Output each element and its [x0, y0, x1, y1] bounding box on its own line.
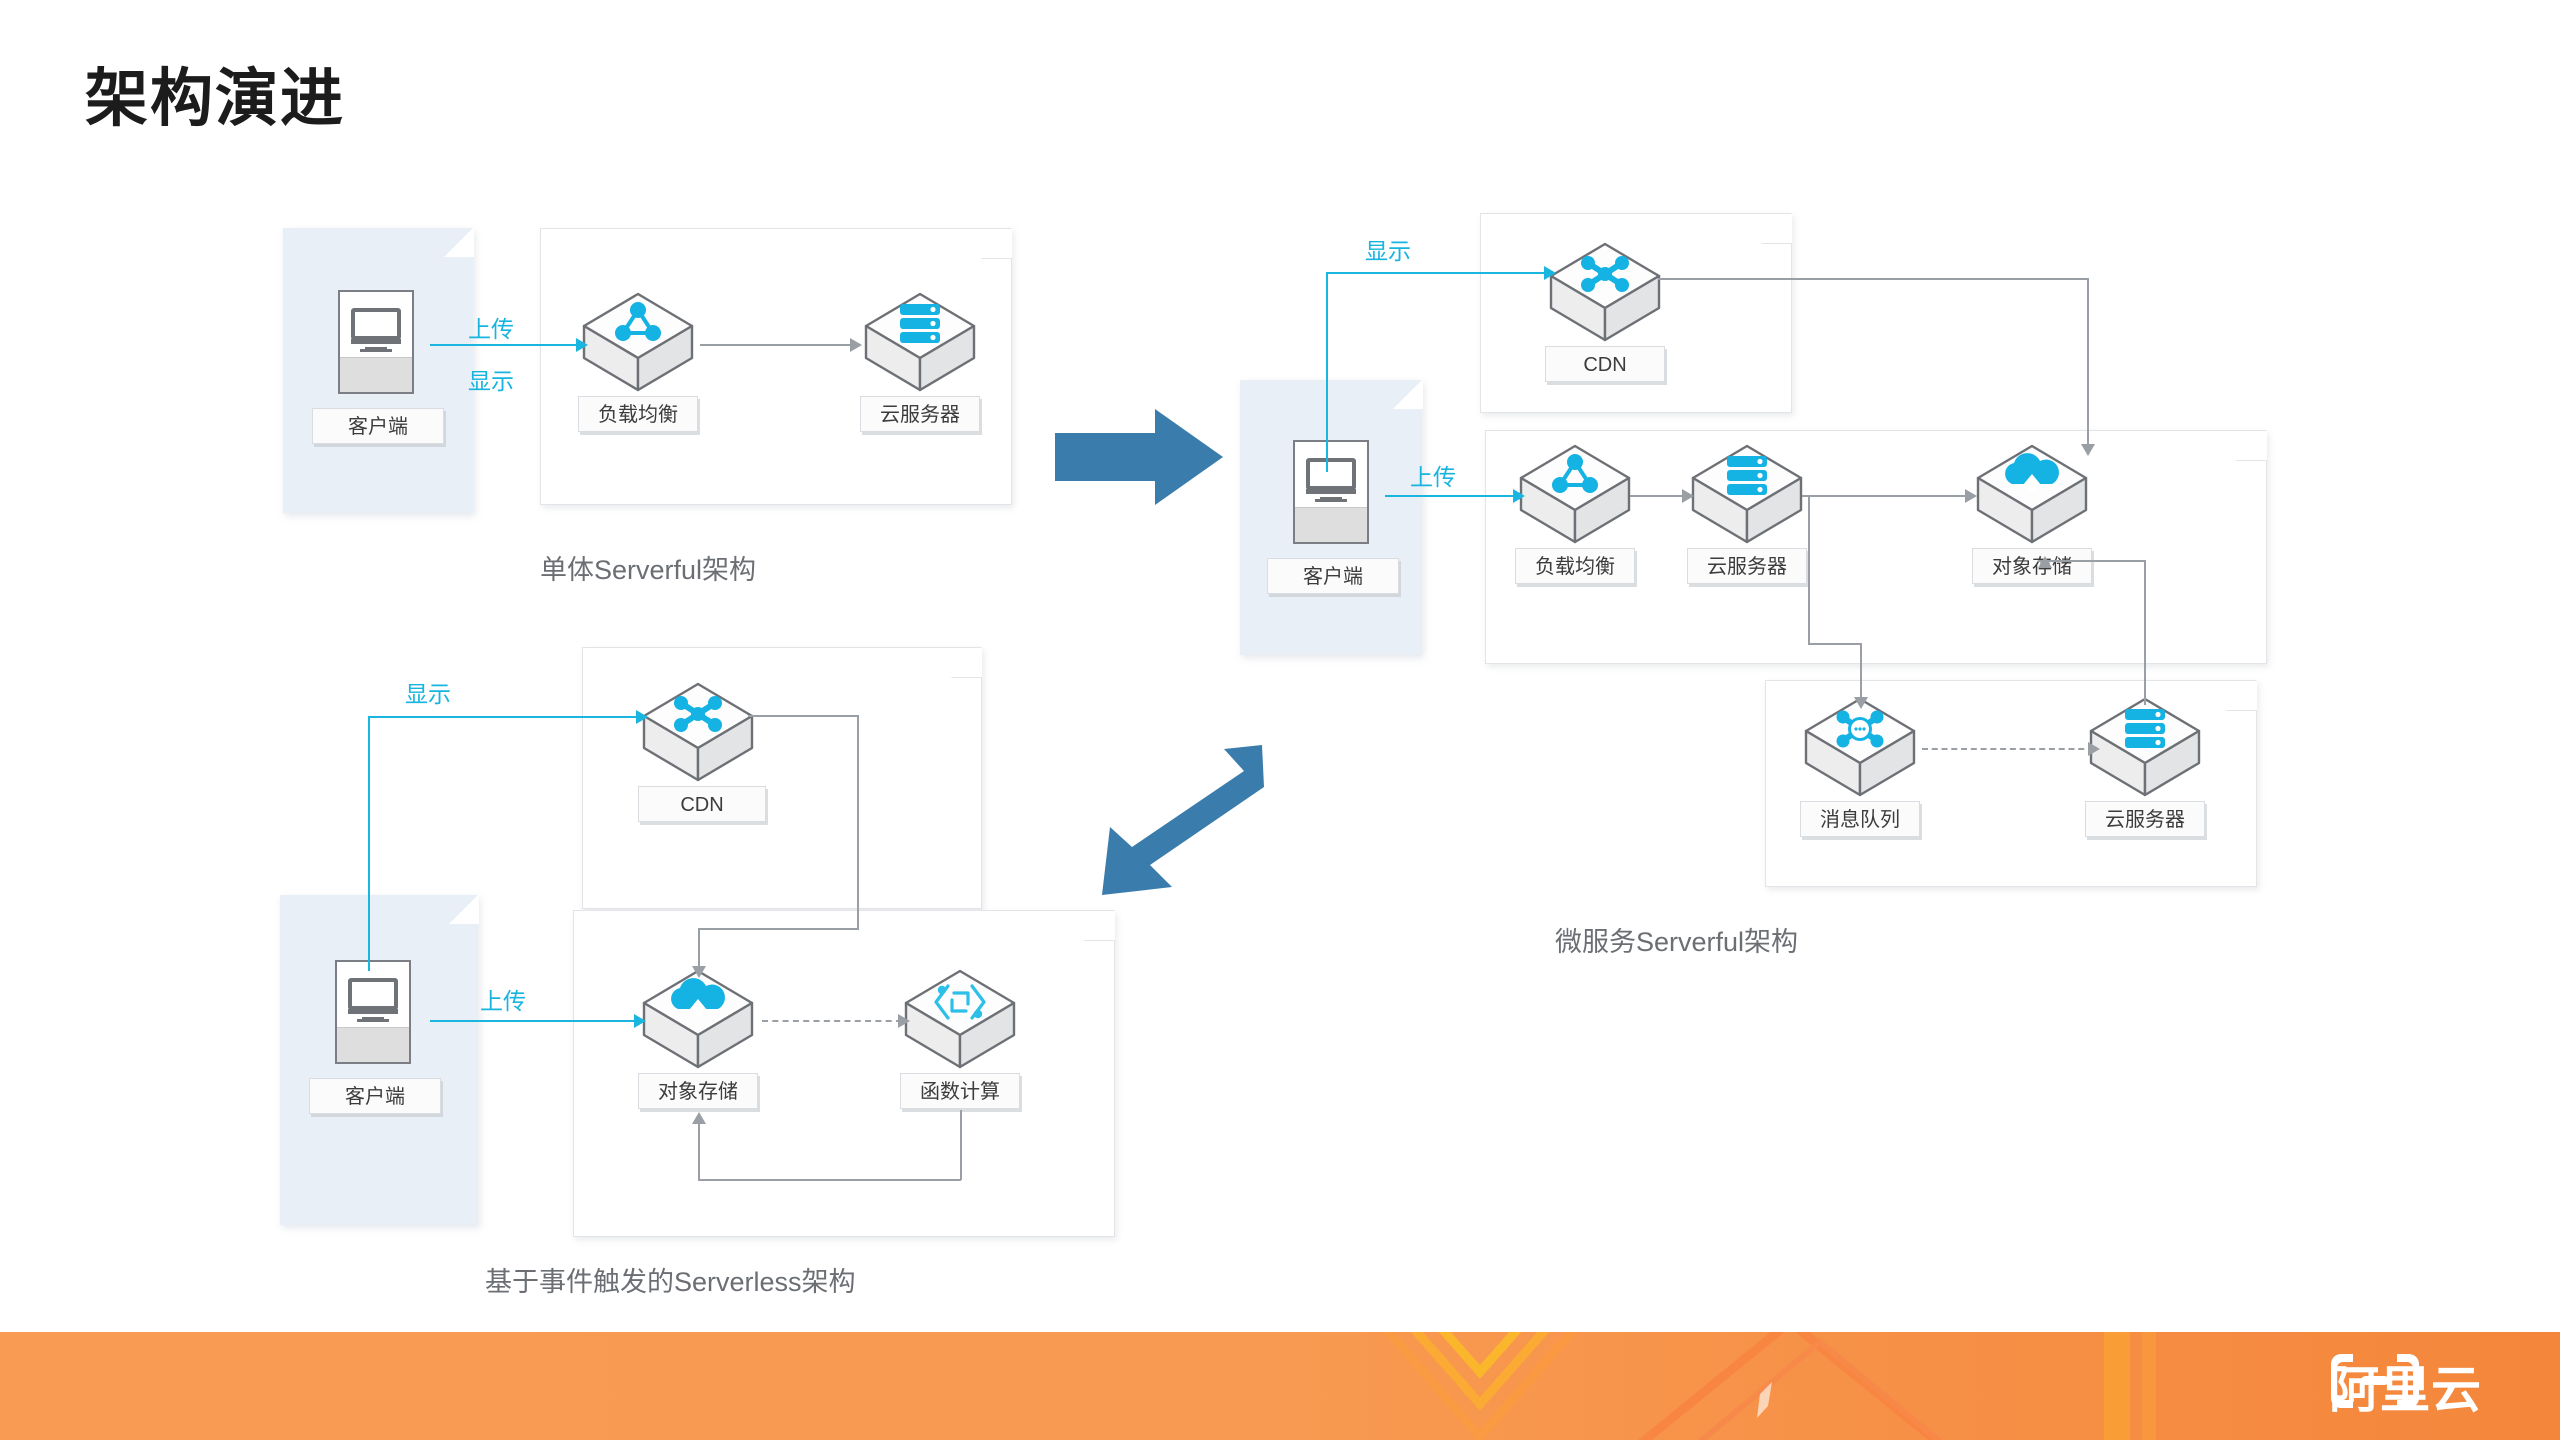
monitor-base-band [337, 1027, 409, 1062]
edge-backend-up-2 [2144, 560, 2146, 705]
arrow-right-icon [1055, 405, 1225, 510]
node-load-balancer-2[interactable]: 负载均衡 [1515, 440, 1635, 584]
diagram-serverless: 客户端 [230, 620, 1280, 1320]
cloud-server-icon [860, 288, 980, 396]
edge-to-cdn-2 [1326, 272, 1548, 274]
edge-client-to-storage-3 [430, 1020, 638, 1022]
edge-backend-to-storage-2 [2038, 560, 2146, 562]
node-label: 负载均衡 [1515, 548, 1635, 584]
edge-fc-down-3 [960, 1110, 962, 1180]
brand-logo: 阿里云 [2329, 1350, 2482, 1422]
panel-folded-corner [1761, 213, 1792, 244]
arrowhead-client-to-lb-2 [1513, 489, 1525, 503]
monitor-base-band [340, 357, 412, 392]
panel-folded-corner [951, 647, 982, 678]
node-object-storage-2[interactable]: 对象存储 [1972, 440, 2092, 584]
monitor-glyph [1304, 458, 1358, 504]
arrowhead-lb-to-server [850, 338, 862, 352]
node-label: 客户端 [309, 1078, 441, 1114]
edge-fc-back-3 [698, 1179, 961, 1181]
alibaba-cloud-logo [2329, 1350, 2421, 1412]
panel-folded-corner [2236, 430, 2267, 461]
edge-cdn-to-storage-h-3 [698, 928, 858, 930]
footer-pattern [0, 1332, 2560, 1440]
arrowhead-server-to-mq-2 [1854, 697, 1868, 709]
object-storage-icon [638, 965, 758, 1073]
slide-canvas: 架构演进 客户端 [0, 0, 2560, 1440]
flow-label-display-3: 显示 [405, 675, 451, 709]
arrowhead-cdn-to-storage-3 [692, 966, 706, 978]
node-label: 云服务器 [860, 396, 980, 432]
diagram-caption-2: 微服务Serverful架构 [1555, 920, 1798, 959]
message-queue-icon [1800, 693, 1920, 801]
cloud-server-icon [2085, 693, 2205, 801]
edge-client-to-lb-2 [1385, 495, 1517, 497]
object-storage-icon [1972, 440, 2092, 548]
function-compute-icon [900, 965, 1020, 1073]
arrowhead-lb-to-server-2 [1682, 489, 1694, 503]
node-cloud-server-backend-2[interactable]: 云服务器 [2085, 693, 2205, 837]
node-label: CDN [638, 786, 766, 822]
node-label: 消息队列 [1800, 801, 1920, 837]
flow-label-upload-1: 上传 [468, 310, 514, 344]
diagram-monolith: 客户端 负载均衡 [0, 0, 1050, 620]
monitor-glyph [349, 308, 403, 354]
edge-mq-to-backend-2 [1922, 748, 2094, 750]
monitor-icon [1293, 440, 1369, 544]
node-cdn-2[interactable]: CDN [1545, 238, 1665, 382]
node-label: 函数计算 [900, 1073, 1020, 1109]
node-label: 云服务器 [1687, 548, 1807, 584]
node-function-compute-3[interactable]: 函数计算 [900, 965, 1020, 1109]
node-load-balancer-1[interactable]: 负载均衡 [578, 288, 698, 432]
node-client-2[interactable]: 客户端 [1267, 440, 1399, 594]
monitor-icon [338, 290, 414, 394]
flow-label-upload-3: 上传 [480, 982, 526, 1016]
load-balancer-icon [578, 288, 698, 396]
edge-to-cdn-3 [368, 716, 640, 718]
arrowhead-to-cdn-2 [1544, 266, 1556, 280]
flow-label-display-1: 显示 [468, 362, 514, 396]
arrowhead-mq-to-backend-2 [2088, 742, 2100, 756]
edge-cdn-down-right-3 [857, 715, 859, 930]
load-balancer-icon [1515, 440, 1635, 548]
monitor-icon [335, 960, 411, 1064]
edge-cdn-right-2 [1658, 278, 2088, 280]
cloud-server-icon [1687, 440, 1807, 548]
node-client-1[interactable]: 客户端 [312, 290, 444, 444]
diagram-caption-3: 基于事件触发的Serverless架构 [485, 1260, 856, 1299]
node-client-3[interactable]: 客户端 [309, 960, 441, 1114]
arrowhead-fc-to-storage-3 [692, 1112, 706, 1124]
edge-back-up-3 [698, 1120, 700, 1180]
edge-mq-down-2 [1860, 643, 1862, 701]
panel-folded-corner [1393, 379, 1423, 409]
node-label: 云服务器 [2085, 801, 2205, 837]
node-label: 对象存储 [1972, 548, 2092, 584]
arrowhead-server-to-storage-2 [1965, 489, 1977, 503]
node-cloud-server-2[interactable]: 云服务器 [1687, 440, 1807, 584]
flow-label-display-2: 显示 [1365, 232, 1411, 266]
node-cdn-3[interactable]: CDN [638, 678, 758, 822]
node-label: 对象存储 [638, 1073, 758, 1109]
panel-folded-corner [444, 227, 474, 257]
edge-cdn-right-3 [748, 715, 858, 717]
edge-client-up-3 [368, 716, 370, 971]
arrowhead-cdn-to-storage-2 [2081, 444, 2095, 456]
edge-lb-to-server-2 [1630, 495, 1690, 497]
edge-storage-to-fc-3 [762, 1020, 902, 1022]
panel-folded-corner [2226, 680, 2257, 711]
panel-folded-corner [1084, 910, 1115, 941]
edge-client-up-2 [1326, 272, 1328, 472]
panel-folded-corner [449, 894, 479, 924]
flow-label-upload-2: 上传 [1410, 458, 1456, 492]
arrowhead-client-to-lb [576, 338, 588, 352]
arrowhead-to-cdn-3 [636, 710, 648, 724]
edge-server-to-mq-2 [1808, 643, 1862, 645]
cdn-icon [638, 678, 758, 786]
edge-server-to-storage-2 [1802, 495, 1970, 497]
node-label: 客户端 [312, 408, 444, 444]
edge-lb-to-server [700, 344, 852, 346]
edge-cdn-down-2 [2087, 278, 2089, 448]
diagram-microservice: 客户端 [1230, 0, 2560, 1000]
node-label: CDN [1545, 346, 1665, 382]
transition-arrow-right [1055, 405, 1225, 515]
edge-server-down-2 [1808, 495, 1810, 645]
arrowhead-client-to-storage-3 [634, 1014, 646, 1028]
monitor-base-band [1295, 507, 1367, 542]
footer-band: 阿里云 [0, 1332, 2560, 1440]
node-message-queue-2[interactable]: 消息队列 [1800, 693, 1920, 837]
cdn-icon [1545, 238, 1665, 346]
monitor-glyph [346, 978, 400, 1024]
node-label: 负载均衡 [578, 396, 698, 432]
node-label: 客户端 [1267, 558, 1399, 594]
edge-cdn-to-storage-v-3 [698, 928, 700, 970]
node-object-storage-3[interactable]: 对象存储 [638, 965, 758, 1109]
edge-client-to-lb [430, 344, 580, 346]
diagram-caption-1: 单体Serverful架构 [540, 548, 756, 587]
arrowhead-storage-to-fc-3 [898, 1014, 910, 1028]
node-cloud-server-1[interactable]: 云服务器 [860, 288, 980, 432]
arrowhead-backend-to-storage-2 [2038, 556, 2052, 568]
panel-folded-corner [981, 228, 1012, 259]
